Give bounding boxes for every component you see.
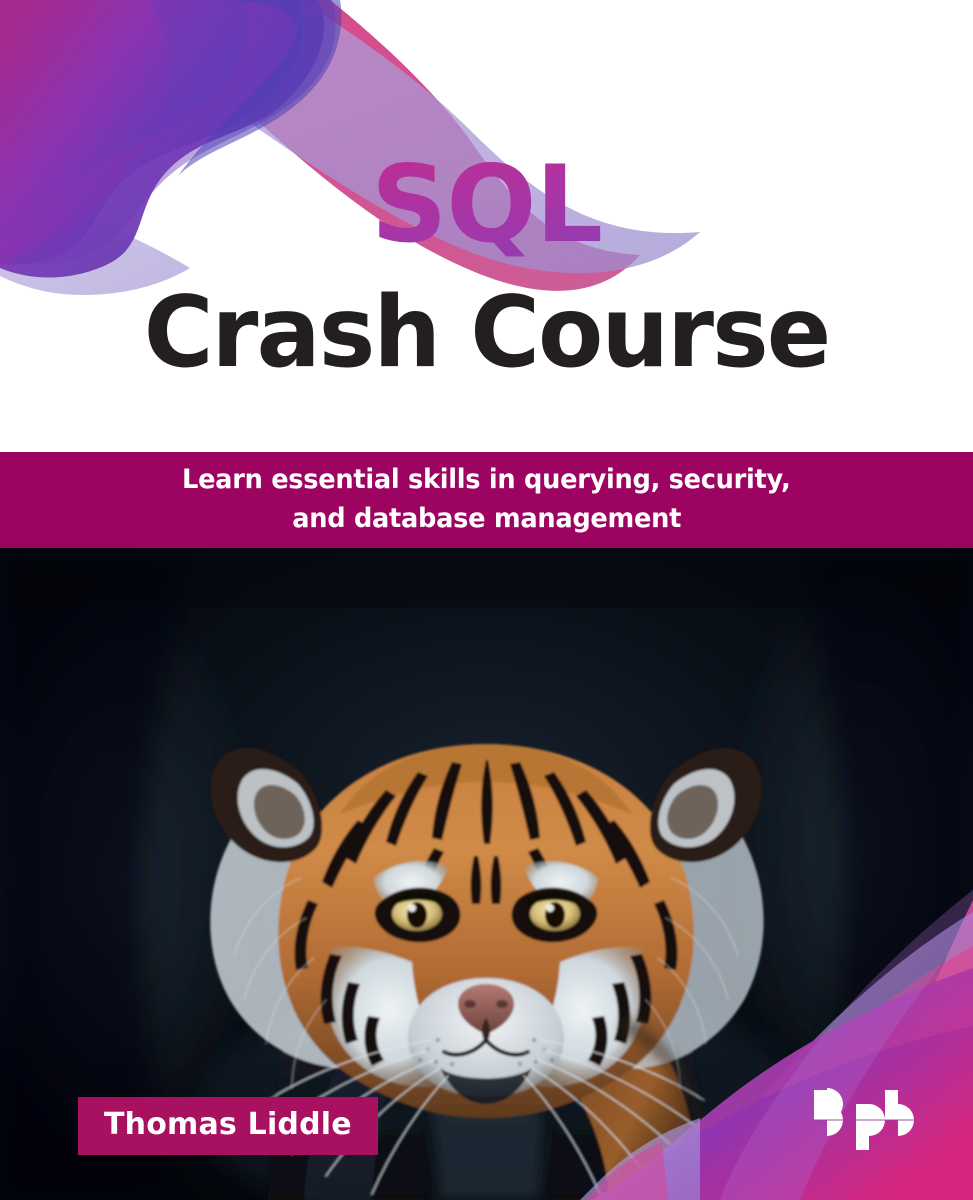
subtitle-line-1: Learn essential skills in querying, secu…	[182, 461, 790, 500]
author-name: Thomas Liddle	[104, 1110, 352, 1140]
book-cover: SQL Crash Course Learn essential skills …	[0, 0, 973, 1200]
author-box: Thomas Liddle	[78, 1097, 378, 1155]
page-title: Crash Course	[15, 283, 959, 385]
series-title: SQL	[0, 152, 973, 258]
subtitle-band: Learn essential skills in querying, secu…	[0, 452, 973, 548]
publisher-logo-bpb	[812, 1088, 930, 1152]
subtitle-line-2: and database management	[292, 500, 681, 539]
